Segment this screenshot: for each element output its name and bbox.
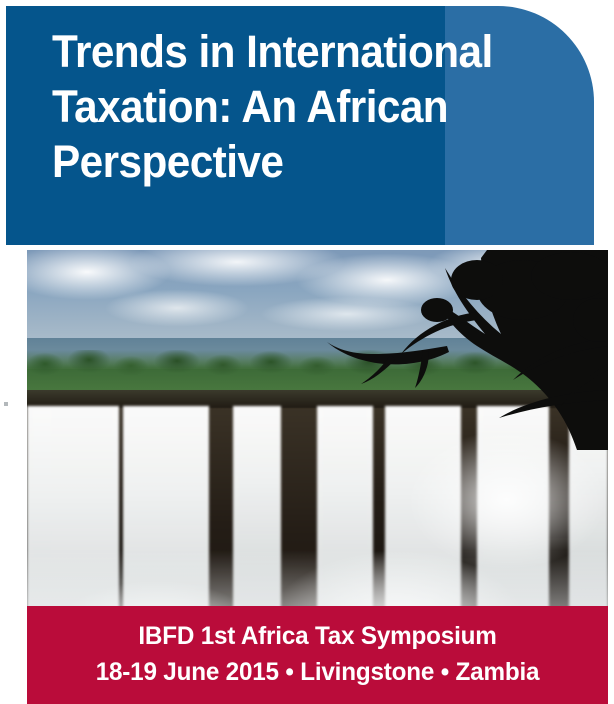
- event-name: IBFD 1st Africa Tax Symposium: [36, 606, 600, 649]
- header-block: Trends in International Taxation: An Afr…: [6, 6, 594, 245]
- tree-branch-silhouette: [327, 250, 608, 450]
- brochure-cover: Trends in International Taxation: An Afr…: [0, 0, 614, 704]
- event-date-location: 18-19 June 2015 • Livingstone • Zambia: [36, 649, 600, 685]
- page-speck-mark: [4, 402, 8, 406]
- mist-layer: [407, 430, 607, 570]
- event-banner: IBFD 1st Africa Tax Symposium 18-19 June…: [27, 606, 608, 704]
- page-title: Trends in International Taxation: An Afr…: [52, 24, 550, 189]
